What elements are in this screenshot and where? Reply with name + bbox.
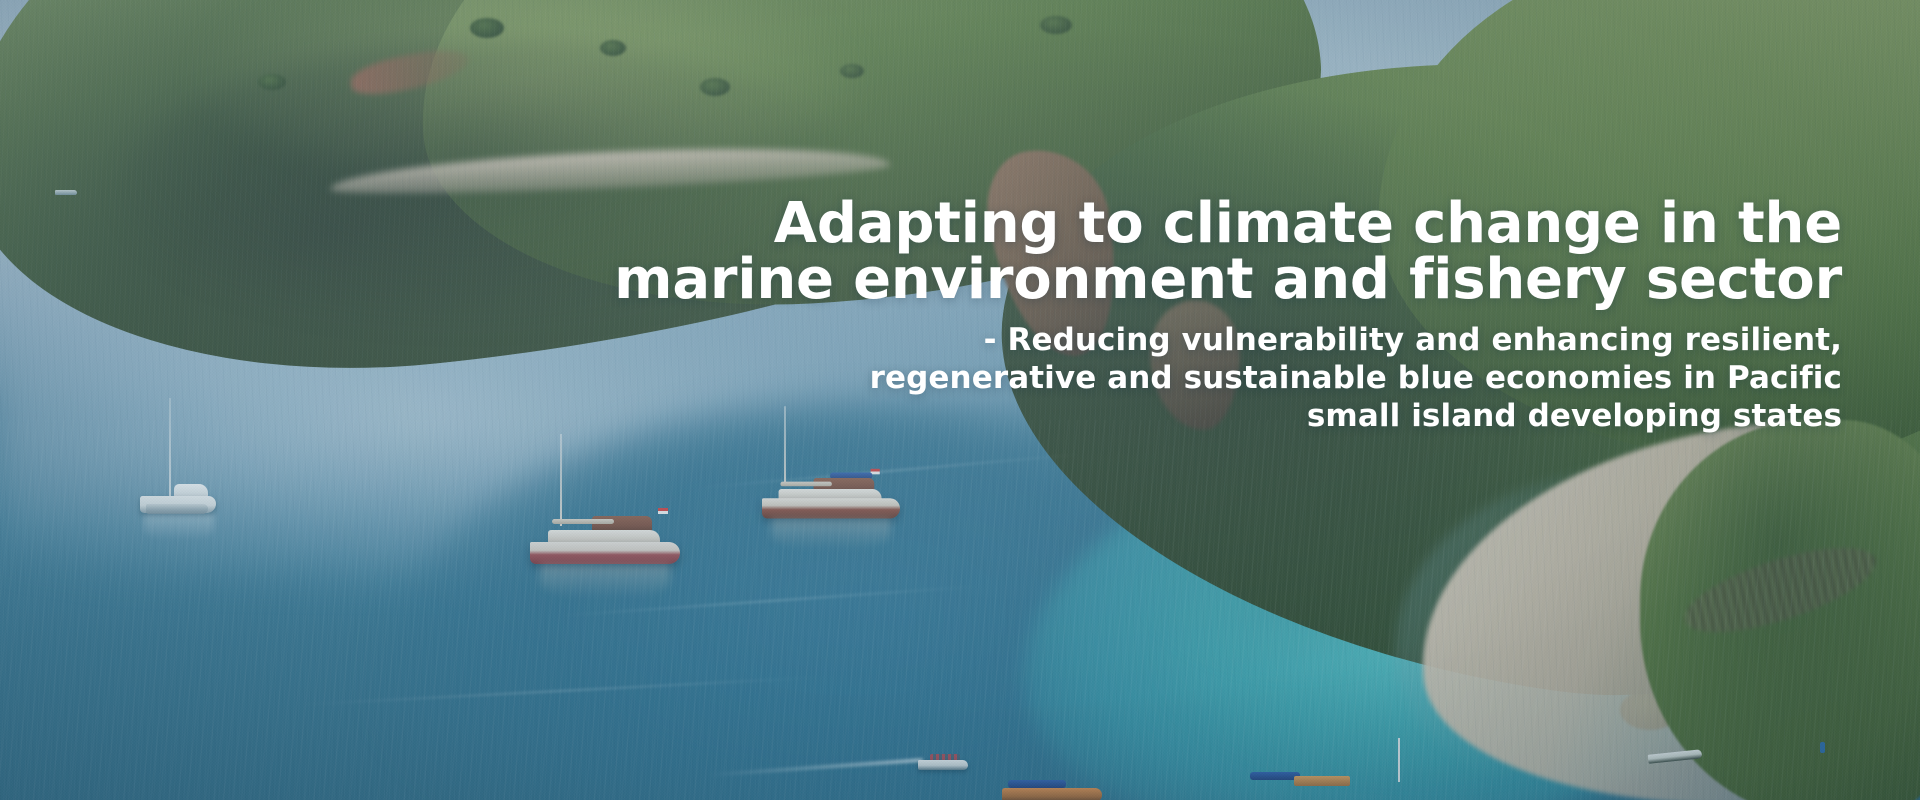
headline-line-1: Adapting to climate change in the [300,196,1842,252]
headline-line-2: marine environment and fishery sector [300,252,1842,308]
hero-banner: Adapting to climate change in the marine… [0,0,1920,800]
page-title: Adapting to climate change in the marine… [0,196,1842,308]
subhead-line-2: regenerative and sustainable blue econom… [240,360,1842,398]
subhead-line-1: - Reducing vulnerability and enhancing r… [240,322,1842,360]
subhead-line-3: small island developing states [240,398,1842,436]
page-subtitle: - Reducing vulnerability and enhancing r… [0,322,1842,435]
banner-text-block: Adapting to climate change in the marine… [0,196,1842,435]
